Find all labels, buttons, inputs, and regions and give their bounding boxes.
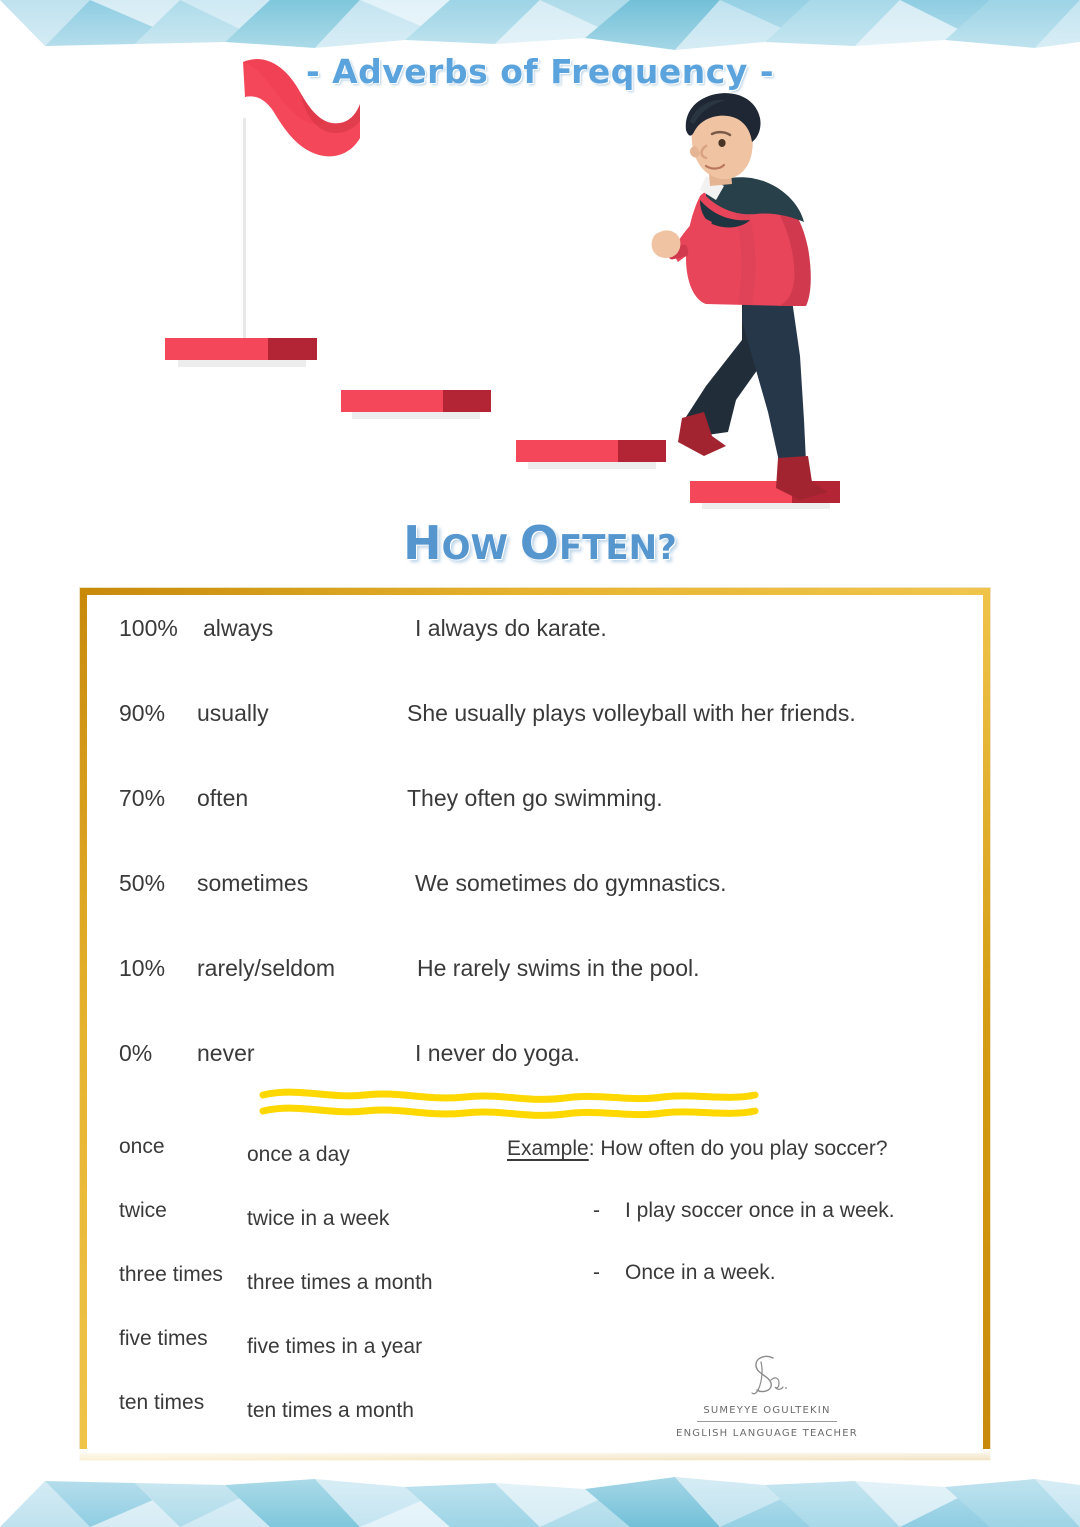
row-sentence: I never do yoga. bbox=[407, 1040, 983, 1067]
list-item: three times three times a month bbox=[87, 1263, 527, 1327]
stair-step-2 bbox=[341, 390, 491, 419]
stair-step-1 bbox=[165, 338, 317, 367]
signature-name-wrap: SUMEYYE OGULTEKIN bbox=[652, 1398, 882, 1422]
row-sentence: They often go swimming. bbox=[407, 785, 983, 812]
example-block: Example: How often do you play soccer? -… bbox=[507, 1137, 977, 1285]
list-item: five times five times in a year bbox=[87, 1327, 527, 1391]
worksheet-page: - Adverbs of Frequency - HOW OFTEN? 100%… bbox=[0, 0, 1080, 1527]
frequency-count: three times bbox=[87, 1263, 247, 1287]
row-sentence: She usually plays volleyball with her fr… bbox=[407, 700, 983, 727]
frequency-phrase: five times in a year bbox=[247, 1335, 527, 1359]
table-row: 10% rarely/seldom He rarely swims in the… bbox=[87, 955, 983, 1040]
frequency-phrase: three times a month bbox=[247, 1271, 527, 1295]
handwritten-signature-icon bbox=[652, 1352, 882, 1398]
subtitle-cap-h: H bbox=[403, 516, 442, 570]
row-sentence: He rarely swims in the pool. bbox=[407, 955, 983, 982]
hero-illustration-area: - Adverbs of Frequency - HOW OFTEN? bbox=[0, 0, 1080, 586]
example-answer-short: - Once in a week. bbox=[507, 1261, 977, 1285]
content-frame: 100% always I always do karate. 90% usua… bbox=[80, 588, 990, 1460]
bottom-decorative-border bbox=[0, 1449, 1080, 1527]
row-percent: 0% bbox=[87, 1040, 197, 1067]
frequency-count: twice bbox=[87, 1199, 247, 1223]
row-percent: 100% bbox=[87, 615, 197, 642]
adverbs-of-frequency-table: 100% always I always do karate. 90% usua… bbox=[87, 615, 983, 1125]
row-adverb: always bbox=[197, 615, 407, 642]
red-flag-icon bbox=[243, 59, 360, 350]
man-climbing-stairs-icon bbox=[652, 93, 828, 500]
signature-block: SUMEYYE OGULTEKIN ENGLISH LANGUAGE TEACH… bbox=[652, 1352, 882, 1439]
example-label: Example bbox=[507, 1137, 589, 1160]
list-item: ten times ten times a month bbox=[87, 1391, 527, 1455]
list-item: once once a day bbox=[87, 1135, 527, 1199]
frequency-count: once bbox=[87, 1135, 247, 1159]
page-title: - Adverbs of Frequency - bbox=[0, 52, 1080, 91]
example-question: Example: How often do you play soccer? bbox=[507, 1137, 977, 1161]
stair-step-3 bbox=[516, 440, 666, 469]
row-percent: 50% bbox=[87, 870, 197, 897]
subtitle-cap-o: O bbox=[520, 516, 559, 570]
wavy-divider bbox=[259, 1083, 759, 1121]
table-row: 50% sometimes We sometimes do gymnastics… bbox=[87, 870, 983, 955]
frequency-expressions-list: once once a day twice twice in a week th… bbox=[87, 1135, 527, 1455]
row-adverb: never bbox=[197, 1040, 407, 1067]
signature-name: SUMEYYE OGULTEKIN bbox=[697, 1405, 836, 1422]
example-answer-long: - I play soccer once in a week. bbox=[507, 1199, 977, 1223]
signature-role: ENGLISH LANGUAGE TEACHER bbox=[652, 1428, 882, 1439]
example-question-text: : How often do you play soccer? bbox=[589, 1137, 888, 1160]
table-row: 100% always I always do karate. bbox=[87, 615, 983, 700]
row-sentence: We sometimes do gymnastics. bbox=[407, 870, 983, 897]
list-item: twice twice in a week bbox=[87, 1199, 527, 1263]
bullet-dash: - bbox=[593, 1261, 625, 1285]
row-adverb: sometimes bbox=[197, 870, 407, 897]
frequency-count: five times bbox=[87, 1327, 247, 1351]
frequency-count: ten times bbox=[87, 1391, 247, 1415]
frequency-phrase: twice in a week bbox=[247, 1207, 527, 1231]
page-subtitle: HOW OFTEN? bbox=[0, 516, 1080, 570]
row-adverb: often bbox=[197, 785, 407, 812]
example-answer-text: Once in a week. bbox=[625, 1261, 776, 1285]
subtitle-ow: OW bbox=[442, 528, 520, 568]
frequency-phrase: once a day bbox=[247, 1143, 527, 1167]
row-adverb: rarely/seldom bbox=[197, 955, 407, 982]
frequency-phrase: ten times a month bbox=[247, 1399, 527, 1423]
row-percent: 90% bbox=[87, 700, 197, 727]
row-sentence: I always do karate. bbox=[407, 615, 983, 642]
bullet-dash: - bbox=[593, 1199, 625, 1223]
row-adverb: usually bbox=[197, 700, 407, 727]
table-row: 70% often They often go swimming. bbox=[87, 785, 983, 870]
subtitle-ften: FTEN? bbox=[559, 528, 677, 568]
row-percent: 10% bbox=[87, 955, 197, 982]
row-percent: 70% bbox=[87, 785, 197, 812]
table-row: 90% usually She usually plays volleyball… bbox=[87, 700, 983, 785]
example-answer-text: I play soccer once in a week. bbox=[625, 1199, 895, 1223]
